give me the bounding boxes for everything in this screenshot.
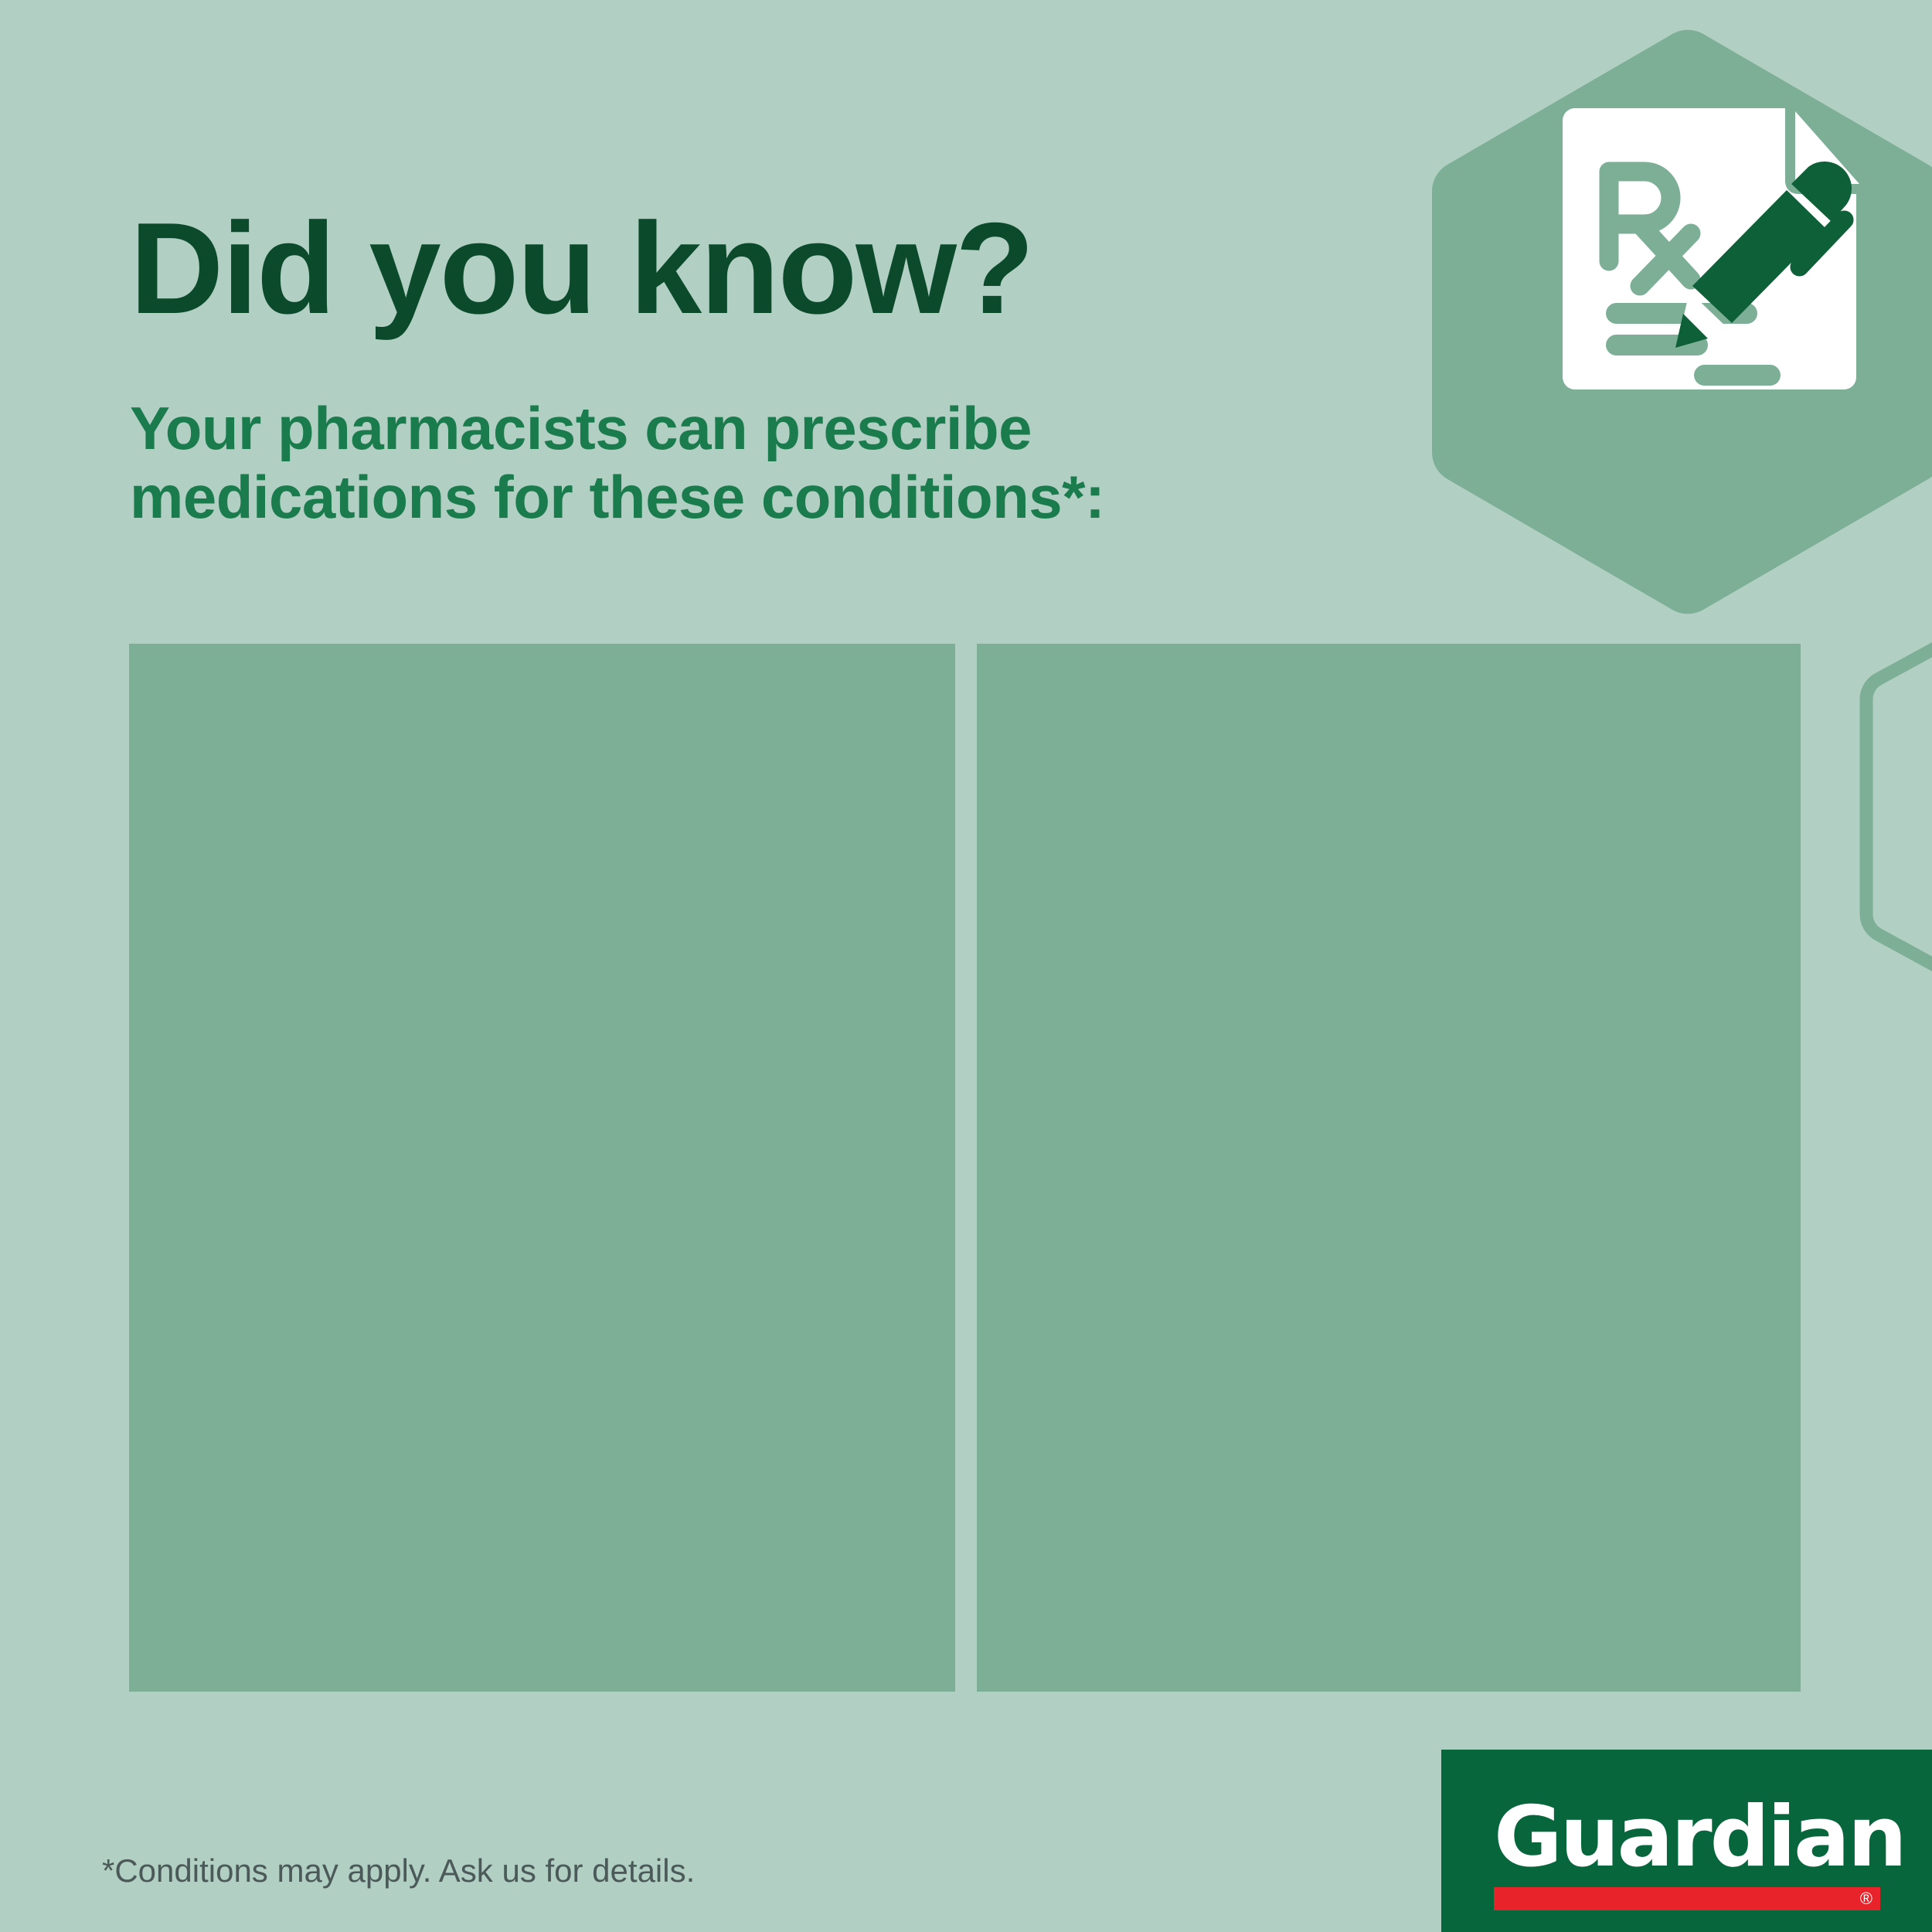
poster-canvas: Did you know? Your pharmacists can presc…	[0, 0, 1932, 1932]
page-subtitle-line-1: Your pharmacists can prescribe	[130, 394, 1105, 463]
guardian-wordmark: Guardian	[1494, 1798, 1880, 1878]
left-conditions-panel	[129, 644, 955, 1692]
guardian-logo: Guardian ®	[1441, 1750, 1932, 1932]
conditions-panel-group	[129, 644, 1801, 1692]
paper-signature-line	[1694, 365, 1781, 386]
page-title: Did you know?	[130, 203, 1033, 333]
page-subtitle-line-2: medications for these conditions*:	[130, 463, 1105, 532]
footnote-disclaimer: *Conditions may apply. Ask us for detail…	[102, 1852, 695, 1890]
hexagon-outline-icon	[1866, 569, 1932, 1045]
page-subtitle: Your pharmacists can prescribe medicatio…	[130, 394, 1105, 532]
right-conditions-panel	[977, 644, 1801, 1692]
guardian-logo-inner: Guardian ®	[1494, 1798, 1880, 1910]
guardian-logo-rule: ®	[1494, 1887, 1880, 1910]
registered-trademark-icon: ®	[1860, 1890, 1872, 1907]
prescription-document-icon	[1553, 100, 1878, 410]
